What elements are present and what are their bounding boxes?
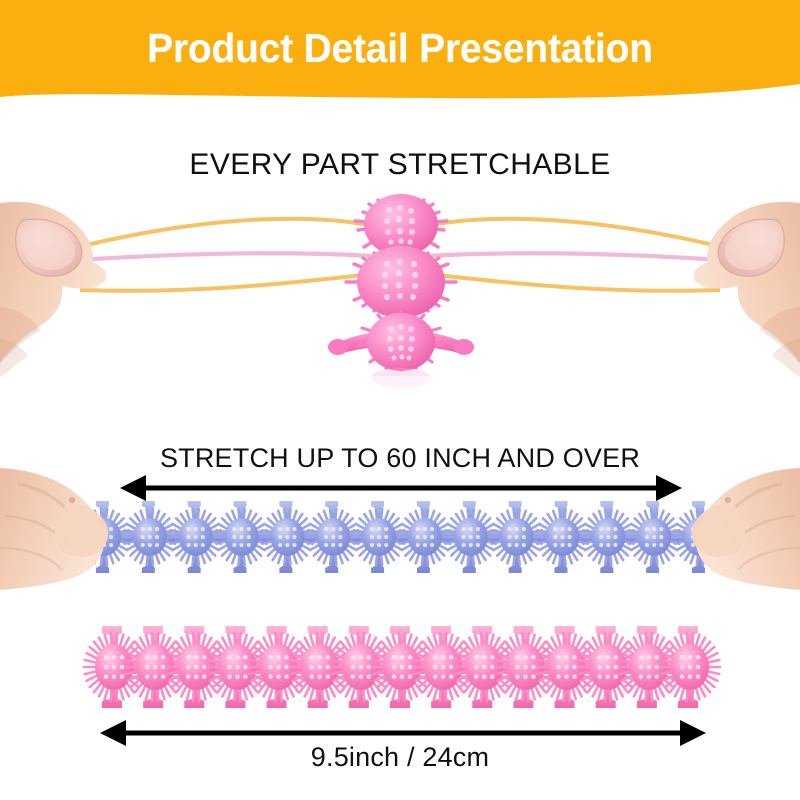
fist-hand-right	[692, 468, 800, 592]
pinching-hand-right	[694, 202, 800, 390]
page-title: Product Detail Presentation	[20, 0, 780, 96]
spiky-cluster	[360, 312, 442, 371]
stretch-strands-right	[426, 219, 722, 291]
stretchable-demo-illustration	[0, 190, 800, 395]
spiky-cluster	[346, 246, 456, 318]
caption-every-part-stretchable: EVERY PART STRETCHABLE	[0, 148, 800, 182]
stretch-strands-left	[78, 219, 374, 291]
header-banner: Product Detail Presentation	[0, 0, 800, 110]
stretched-strip-illustration	[0, 462, 800, 592]
relaxed-strip-illustration	[0, 605, 800, 750]
blue-spiky-strip-stretched	[78, 501, 726, 573]
stretch-measure-arrow	[120, 475, 682, 501]
pink-spiky-strip-relaxed	[84, 626, 720, 708]
caption-relaxed-length: 9.5inch / 24cm	[0, 742, 800, 773]
product-detail-presentation: Product Detail Presentation EVERY PART S…	[0, 0, 800, 800]
fist-hand-left	[0, 468, 108, 592]
pinching-hand-left	[0, 202, 106, 390]
